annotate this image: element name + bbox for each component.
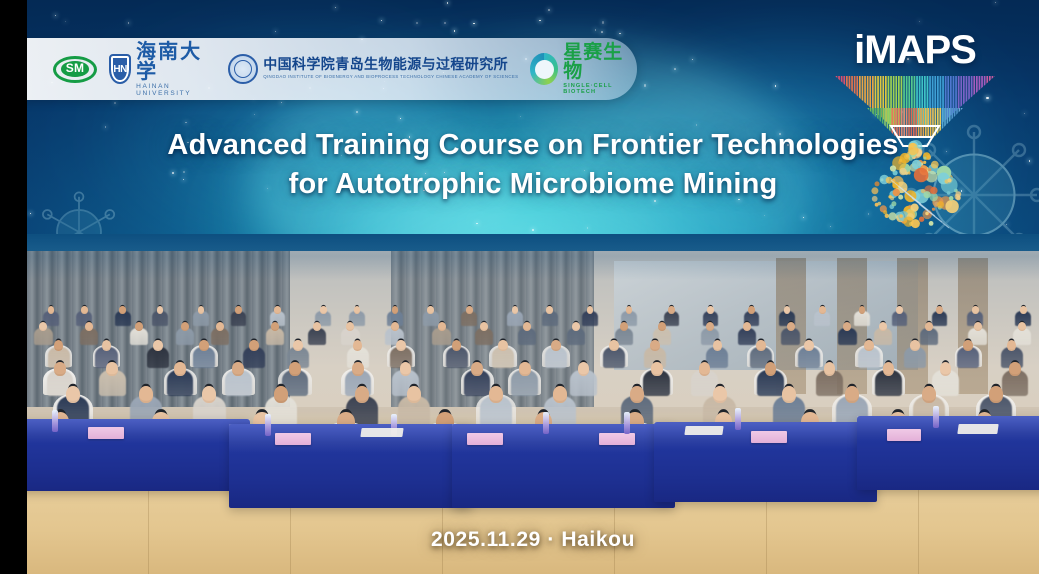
audience-head xyxy=(782,386,796,403)
audience-head xyxy=(940,362,952,376)
audience-head xyxy=(355,386,369,403)
audience-head xyxy=(352,362,364,376)
audience-head xyxy=(391,322,399,331)
water-bottle xyxy=(933,406,939,428)
audience-head xyxy=(427,306,434,314)
document-sheet xyxy=(360,428,403,437)
audience-head xyxy=(883,362,895,376)
shield-icon: HN xyxy=(109,54,131,84)
audience-head xyxy=(235,306,242,314)
head-table-center-left xyxy=(229,424,472,508)
spectral-funnel-icon xyxy=(825,74,1005,146)
letterbox-bar-left xyxy=(0,0,27,574)
sm-mark-icon: SM xyxy=(53,56,97,83)
qibebt-cas-logo: 中国科学院青岛生物能源与过程研究所 QINGDAO INSTITUTE OF B… xyxy=(228,54,518,84)
water-bottle xyxy=(624,412,630,434)
audience-head xyxy=(199,340,209,351)
audience-head xyxy=(713,386,727,403)
cas-seal-icon xyxy=(228,54,258,84)
audience-head xyxy=(896,306,903,314)
audience-head xyxy=(668,306,675,314)
audience-head xyxy=(202,386,216,403)
audience-head xyxy=(972,306,979,314)
name-card xyxy=(887,429,921,441)
audience-head xyxy=(1020,306,1027,314)
sponsor-logo-bar: SM HN 海南大学 HAINAN UNIVERSITY 中国科学院青岛生物能源… xyxy=(27,38,637,100)
audience-head xyxy=(845,386,859,403)
head-table-left xyxy=(27,419,250,491)
water-bottle xyxy=(265,414,271,436)
audience-head xyxy=(922,386,936,403)
audience-head xyxy=(106,362,118,376)
audience-head xyxy=(819,306,826,314)
name-card xyxy=(751,431,787,443)
xingsai-name-en: SINGLE·CELL BIOTECH xyxy=(563,84,637,95)
qibebt-name-en: QINGDAO INSTITUTE OF BIOENERGY AND BIOPR… xyxy=(263,75,518,79)
audience-head xyxy=(609,340,619,351)
audience-head xyxy=(551,340,561,351)
audience-head xyxy=(859,306,866,314)
title-line-1: Advanced Training Course on Frontier Tec… xyxy=(167,129,898,161)
audience-head xyxy=(787,322,795,331)
audience-head xyxy=(1018,322,1026,331)
qibebt-name-cn: 中国科学院青岛生物能源与过程研究所 xyxy=(263,58,518,72)
imaps-wordmark: iMAPS xyxy=(854,30,976,70)
hainan-shield-text: HN xyxy=(113,64,126,75)
audience-head xyxy=(66,386,80,403)
audience-head xyxy=(824,362,836,376)
audience-head xyxy=(546,306,553,314)
audience-head xyxy=(626,306,633,314)
audience-head xyxy=(400,362,412,376)
xingsai-name-cn: 星赛生物 xyxy=(563,43,637,81)
document-sheet xyxy=(684,426,723,435)
audience-head xyxy=(489,386,503,403)
audience-head xyxy=(519,362,531,376)
audience-head xyxy=(620,322,628,331)
audience-head xyxy=(320,306,327,314)
audience-head xyxy=(578,362,590,376)
hainan-university-logo: HN 海南大学 HAINAN UNIVERSITY xyxy=(109,41,216,97)
audience-head xyxy=(936,306,943,314)
audience-head xyxy=(438,322,446,331)
audience-head xyxy=(119,306,126,314)
audience-head xyxy=(910,340,920,351)
audience-head xyxy=(81,306,88,314)
audience-head xyxy=(249,340,259,351)
audience-head xyxy=(699,362,711,376)
poster-content: SM HN 海南大学 HAINAN UNIVERSITY 中国科学院青岛生物能源… xyxy=(27,0,1039,574)
name-card xyxy=(599,433,635,445)
sm-logo: SM xyxy=(53,56,97,83)
water-bottle xyxy=(735,408,741,430)
audience-head xyxy=(707,306,714,314)
audience-head xyxy=(293,340,303,351)
date-location-text: 2025.11.29 · Haikou xyxy=(27,528,1039,552)
cell-ring-icon xyxy=(530,53,558,85)
audience-head xyxy=(407,386,421,403)
audience-head xyxy=(630,386,644,403)
audience-head xyxy=(748,306,755,314)
sm-logo-text: SM xyxy=(61,61,90,77)
audience-head xyxy=(274,306,281,314)
audience-head xyxy=(864,340,874,351)
audience-head xyxy=(198,306,205,314)
audience-head xyxy=(651,362,663,376)
audience-head xyxy=(480,322,488,331)
cell-droplet-icon xyxy=(825,140,1005,228)
hainan-name-cn: 海南大学 xyxy=(136,41,216,81)
banner-canvas: SM HN 海南大学 HAINAN UNIVERSITY 中国科学院青岛生物能源… xyxy=(0,0,1039,574)
audience-head xyxy=(879,322,887,331)
audience-head xyxy=(989,386,1003,403)
audience-head xyxy=(216,322,224,331)
audience-head xyxy=(963,340,973,351)
name-card xyxy=(275,433,311,445)
hainan-name-en: HAINAN UNIVERSITY xyxy=(136,84,216,97)
audience-head xyxy=(743,322,751,331)
audience-head xyxy=(756,340,766,351)
audience-head xyxy=(174,362,186,376)
audience-head xyxy=(139,386,153,403)
audience-head xyxy=(54,362,66,376)
photo-top-fade xyxy=(27,234,1039,280)
group-photo xyxy=(27,234,1039,574)
audience-head xyxy=(48,306,55,314)
audience-head xyxy=(274,386,288,403)
audience-head xyxy=(153,340,163,351)
audience-head xyxy=(974,322,982,331)
imaps-logo: iMAPS xyxy=(825,30,1005,228)
head-table-right xyxy=(857,416,1039,490)
audience-head xyxy=(804,340,814,351)
audience-head xyxy=(523,322,531,331)
audience-head xyxy=(553,386,567,403)
audience-head xyxy=(466,306,473,314)
audience-head xyxy=(354,306,361,314)
document-sheet xyxy=(957,424,998,434)
audience-head xyxy=(765,362,777,376)
audience-head xyxy=(713,340,723,351)
audience-head xyxy=(1009,362,1021,376)
single-cell-biotech-logo: 星赛生物 SINGLE·CELL BIOTECH xyxy=(530,43,637,95)
audience-head xyxy=(650,340,660,351)
water-bottle xyxy=(52,410,58,432)
water-bottle xyxy=(543,412,549,434)
name-card xyxy=(467,433,503,445)
audience-head xyxy=(396,340,406,351)
audience-head xyxy=(313,322,321,331)
audience-head xyxy=(289,362,301,376)
audience-head xyxy=(232,362,244,376)
audience-head xyxy=(925,322,933,331)
audience-head xyxy=(498,340,508,351)
audience-head xyxy=(471,362,483,376)
name-card xyxy=(88,427,124,439)
